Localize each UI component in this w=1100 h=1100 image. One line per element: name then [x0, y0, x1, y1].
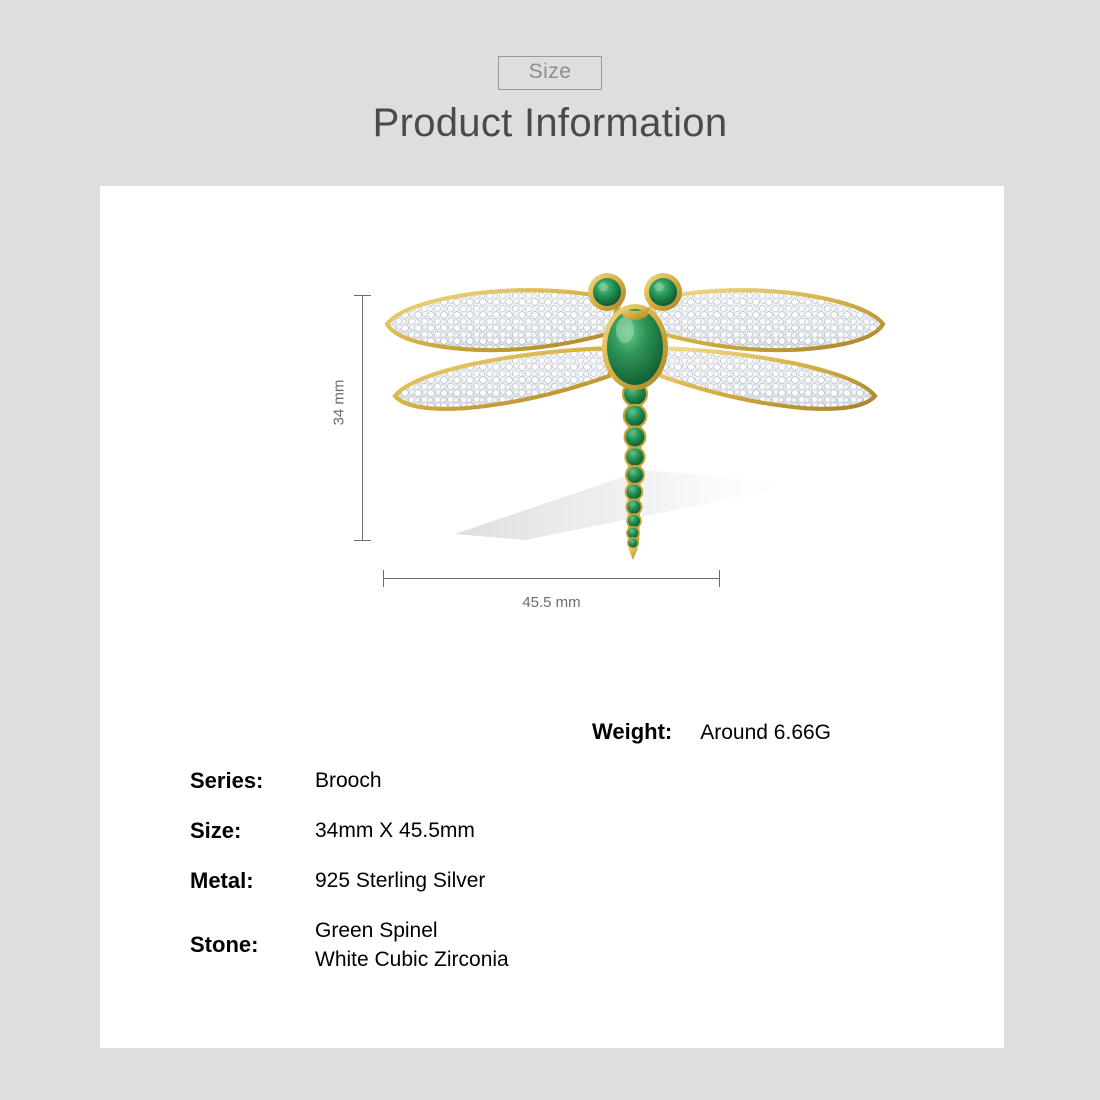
spec-label-series: Series:	[190, 768, 315, 794]
spec-label-stone: Stone:	[190, 932, 315, 958]
height-dimension-label: 34 mm	[331, 380, 348, 426]
tail-gemstone-column	[623, 382, 647, 560]
height-dimension-line	[362, 295, 363, 541]
spec-list: Series: Brooch Size: 34mm X 45.5mm Metal…	[190, 766, 750, 974]
eye-left	[588, 273, 626, 311]
height-dimension-cap-top	[354, 295, 371, 296]
eye-right	[644, 273, 682, 311]
height-dimension-cap-bottom	[354, 540, 371, 541]
spec-value-metal: 925 Sterling Silver	[315, 866, 485, 895]
spec-label-weight: Weight:	[592, 719, 672, 745]
page-title: Product Information	[0, 99, 1100, 147]
spec-value-stone-line1: Green Spinel	[315, 916, 509, 945]
spec-label-size: Size:	[190, 818, 315, 844]
spec-value-weight: Around 6.66G	[700, 721, 831, 745]
spec-row-weight: Weight:Around 6.66G	[592, 719, 831, 745]
product-image-dragonfly-brooch	[375, 272, 895, 562]
spec-row-series: Series: Brooch	[190, 766, 750, 795]
spec-row-stone: Stone: Green Spinel White Cubic Zirconia	[190, 916, 750, 974]
width-dimension-line	[383, 578, 720, 579]
width-dimension-cap-right	[719, 570, 720, 587]
spec-value-size: 34mm X 45.5mm	[315, 816, 475, 845]
size-badge: Size	[498, 56, 603, 90]
width-dimension-label: 45.5 mm	[383, 594, 720, 611]
size-badge-container: Size	[0, 56, 1100, 90]
spec-value-stone: Green Spinel White Cubic Zirconia	[315, 916, 509, 974]
spec-row-size: Size: 34mm X 45.5mm	[190, 816, 750, 845]
spec-value-series: Brooch	[315, 766, 382, 795]
width-dimension-cap-left	[383, 570, 384, 587]
spec-row-metal: Metal: 925 Sterling Silver	[190, 866, 750, 895]
spec-value-stone-line2: White Cubic Zirconia	[315, 945, 509, 974]
spec-label-metal: Metal:	[190, 868, 315, 894]
